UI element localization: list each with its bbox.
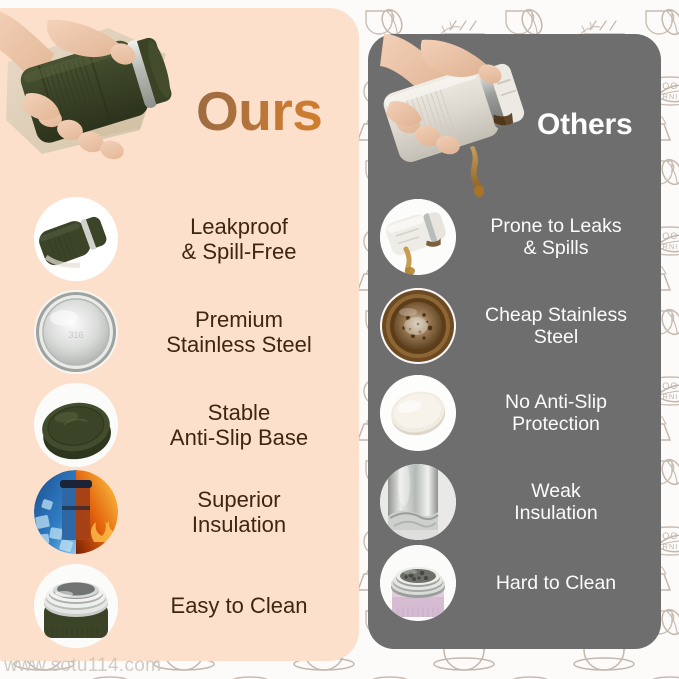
issue-row-hard-to-clean: Hard to Clean [380, 545, 652, 621]
dented-silver-tumbler-icon [380, 464, 456, 540]
issue-label: Hard to Clean [456, 572, 652, 594]
others-title: Others [537, 110, 633, 140]
infographic-canvas: GOOD MORNING [0, 0, 679, 679]
feature-row-anti-slip-base: Stable Anti-Slip Base [34, 383, 354, 467]
ours-title: Ours [196, 84, 322, 139]
feature-label: Superior Insulation [118, 487, 354, 538]
wide-threaded-opening-icon [34, 564, 118, 648]
watermark: www.sotu114.com [4, 655, 161, 677]
polished-steel-interior-icon: 316 [34, 290, 118, 374]
svg-text:316: 316 [68, 330, 83, 340]
issue-label: Weak Insulation [456, 480, 652, 525]
rusty-stained-interior-icon [380, 288, 456, 364]
issue-row-cheap-steel: Cheap Stainless Steel [380, 288, 652, 364]
feature-row-premium-steel: 316 Premium Stainless Steel [34, 290, 354, 374]
plain-cream-flat-base-icon [380, 375, 456, 451]
issue-row-weak-insulation: Weak Insulation [380, 464, 652, 540]
issue-label: No Anti-Slip Protection [456, 391, 652, 436]
feature-label: Leakproof & Spill-Free [118, 214, 354, 265]
leaking-white-lid-icon [380, 199, 456, 275]
issue-label: Cheap Stainless Steel [456, 304, 652, 349]
olive-anti-slip-base-icon [34, 383, 118, 467]
issue-row-prone-to-leaks: Prone to Leaks & Spills [380, 199, 652, 275]
hand-holding-leaking-cream-tumbler-icon [378, 28, 538, 198]
issue-label: Prone to Leaks & Spills [456, 215, 652, 260]
issue-row-no-anti-slip: No Anti-Slip Protection [380, 375, 652, 451]
hand-holding-olive-tumbler-icon [0, 2, 205, 177]
feature-label: Easy to Clean [118, 593, 354, 618]
olive-lid-closeup-icon [34, 197, 118, 281]
feature-label: Premium Stainless Steel [118, 307, 354, 358]
feature-label: Stable Anti-Slip Base [118, 400, 354, 451]
feature-row-superior-insulation: Superior Insulation [34, 470, 354, 554]
dirty-pink-bottle-threads-icon [380, 545, 456, 621]
ice-and-fire-insulation-icon [34, 470, 118, 554]
feature-row-leakproof: Leakproof & Spill-Free [34, 197, 354, 281]
feature-row-easy-to-clean: Easy to Clean [34, 564, 354, 648]
